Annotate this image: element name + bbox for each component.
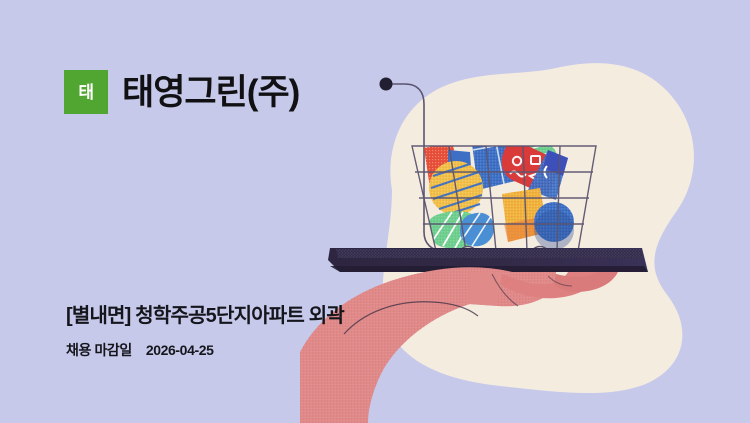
beige-blob: [383, 63, 694, 393]
cart-handle: [380, 78, 577, 252]
item-yellow-striped-ball: [429, 161, 483, 215]
company-name: 태영그린(주): [122, 75, 299, 110]
deadline-date: 2026-04-25: [146, 342, 214, 358]
blob-silhouette-mask: [0, 0, 750, 423]
job-title: [별내면] 청학주공5단지아파트 외곽: [66, 305, 344, 327]
item-blue-gift-box: [470, 99, 528, 190]
cart-contents: [424, 99, 574, 250]
job-posting-card: 태 태영그린(주) [별내면] 청학주공5단지아파트 외곽 채용 마감일 202…: [0, 0, 750, 423]
brand-row: 태 태영그린(주): [64, 70, 299, 114]
item-blue-dotted-tag: [528, 150, 568, 200]
company-logo-initial: 태: [78, 84, 93, 101]
deadline-label: 채용 마감일: [66, 342, 132, 358]
handle-dot: [380, 78, 393, 91]
item-green-striped-ball: [516, 140, 558, 182]
item-red-patterned-tag: [502, 142, 562, 196]
blob-edge-mask: [300, 278, 400, 423]
shopping-cart-illustration: [0, 0, 750, 423]
outside-blob-cover: [0, 0, 750, 423]
dark-tray-bar: [328, 248, 648, 272]
item-red-blue-package: [424, 142, 472, 188]
cart-wheels: [459, 247, 550, 266]
cart-basket-frame: [412, 146, 596, 251]
company-logo: 태: [64, 70, 108, 114]
deadline-line: 채용 마감일 2026-04-25: [66, 343, 214, 358]
item-orange-square: [502, 188, 548, 242]
item-green-striped-blob: [428, 211, 484, 248]
hand-and-arm: [300, 267, 618, 423]
item-blue-striped-blob: [460, 213, 494, 247]
item-blue-sphere: [534, 202, 574, 250]
